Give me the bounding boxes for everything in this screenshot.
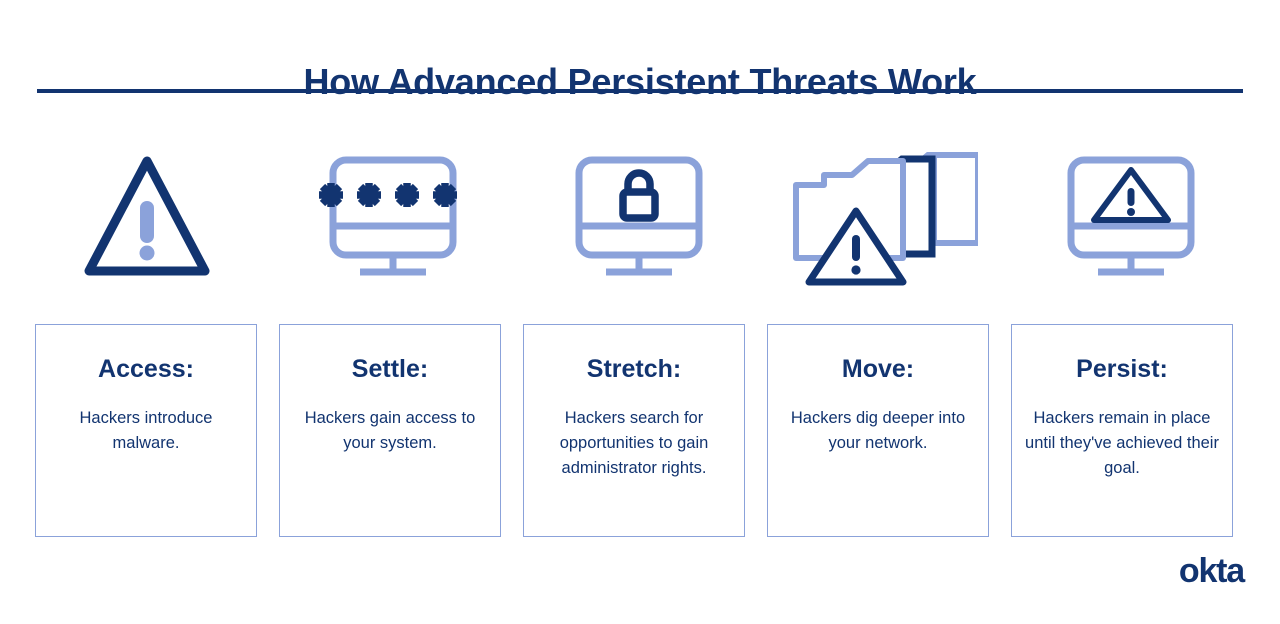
step-heading: Settle: xyxy=(352,354,428,384)
okta-logo: okta xyxy=(1179,554,1244,588)
steps-card-row: Access: Hackers introduce malware. Settl… xyxy=(35,324,1243,539)
padlock-glyph xyxy=(623,173,655,218)
step-heading: Persist: xyxy=(1076,354,1168,384)
step-body: Hackers remain in place until they've ac… xyxy=(1012,406,1232,481)
title-divider xyxy=(37,89,1243,93)
step-card-settle: Settle: Hackers gain access to your syst… xyxy=(279,324,501,537)
page-title: How Advanced Persistent Threats Work xyxy=(0,60,1280,104)
icon-cell-settle xyxy=(281,140,505,295)
warning-triangle-icon xyxy=(77,143,217,293)
step-heading: Stretch: xyxy=(587,354,681,384)
icon-cell-stretch xyxy=(527,140,751,295)
icon-cell-persist xyxy=(1019,140,1243,295)
infographic-page: How Advanced Persistent Threats Work xyxy=(0,0,1280,624)
icon-cell-move xyxy=(773,140,997,295)
step-card-move: Move: Hackers dig deeper into your netwo… xyxy=(767,324,989,537)
step-card-access: Access: Hackers introduce malware. xyxy=(35,324,257,537)
asterisk-group xyxy=(319,183,457,207)
step-body: Hackers dig deeper into your network. xyxy=(768,406,988,456)
step-card-stretch: Stretch: Hackers search for opportunitie… xyxy=(523,324,745,537)
icon-cell-access xyxy=(35,140,259,295)
password-monitor-icon xyxy=(318,148,468,288)
step-body: Hackers search for opportunities to gain… xyxy=(524,406,744,481)
step-body: Hackers introduce malware. xyxy=(36,406,256,456)
folders-warning-icon xyxy=(793,143,978,293)
step-body: Hackers gain access to your system. xyxy=(280,406,500,456)
step-heading: Access: xyxy=(98,354,194,384)
step-card-persist: Persist: Hackers remain in place until t… xyxy=(1011,324,1233,537)
inner-warning-triangle-icon xyxy=(1094,170,1168,220)
step-heading: Move: xyxy=(842,354,914,384)
lock-monitor-icon xyxy=(564,148,714,288)
alert-monitor-icon xyxy=(1056,148,1206,288)
icon-row xyxy=(35,140,1243,295)
